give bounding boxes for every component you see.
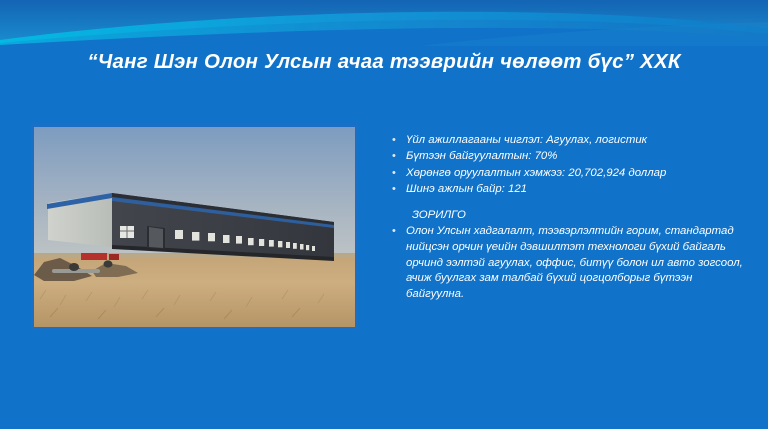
goal-heading: ЗОРИЛГО (392, 208, 752, 223)
list-item: • Хөрөнгө оруулалтын хэмжээ: 20,702,924 … (392, 166, 752, 181)
bullet-text: Шинэ ажлын байр: 121 (406, 182, 752, 197)
bullet-icon: • (392, 133, 406, 148)
list-item: • Шинэ ажлын байр: 121 (392, 182, 752, 197)
goal-text: Олон Улсын хадгалалт, тээвэрлэлтийн гори… (406, 224, 752, 302)
bullet-icon: • (392, 166, 406, 181)
presentation-slide: “Чанг Шэн Олон Улсын ачаа тээврийн чөлөө… (0, 0, 768, 429)
bullet-text: Үйл ажиллагааны чиглэл: Агуулах, логисти… (406, 133, 752, 148)
slide-body: • Үйл ажиллагааны чиглэл: Агуулах, логис… (392, 133, 752, 303)
warehouse-photo-image (34, 127, 355, 327)
warehouse-photo (31, 124, 358, 330)
list-item: • Үйл ажиллагааны чиглэл: Агуулах, логис… (392, 133, 752, 148)
bullet-text: Хөрөнгө оруулалтын хэмжээ: 20,702,924 до… (406, 166, 752, 181)
slide-title: “Чанг Шэн Олон Улсын ачаа тээврийн чөлөө… (0, 50, 768, 74)
bullet-icon: • (392, 224, 406, 239)
goal-list-item: • Олон Улсын хадгалалт, тээвэрлэлтийн го… (392, 224, 752, 302)
list-item: • Бүтээн байгуулалтын: 70% (392, 149, 752, 164)
bullet-icon: • (392, 182, 406, 197)
bullet-text: Бүтээн байгуулалтын: 70% (406, 149, 752, 164)
bullet-icon: • (392, 149, 406, 164)
header-wave-banner (0, 0, 768, 46)
